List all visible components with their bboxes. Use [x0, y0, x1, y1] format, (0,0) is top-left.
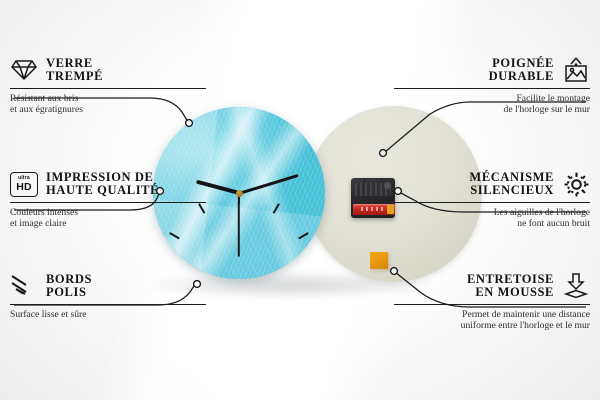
feature-desc-line2: uniforme entre l'horloge et le mur	[461, 320, 590, 331]
hd-badge-big-text: HD	[16, 182, 32, 193]
feature-desc-line1: Couleurs intenses	[10, 207, 78, 218]
feature-poignee-durable: POIGNÉE DURABLE Facilite le montage de l…	[394, 56, 590, 116]
feature-header: ultra HD IMPRESSION DE HAUTE QUALITÉ	[10, 170, 206, 198]
connector-dot-verre-trempe	[186, 120, 193, 127]
diamond-icon	[10, 56, 38, 84]
feature-title-line1: BORDS	[46, 272, 92, 286]
feature-title-line1: POIGNÉE	[492, 56, 554, 70]
feature-desc-line2: et aux égratignures	[10, 104, 83, 115]
feature-header: VERRE TREMPÉ	[10, 56, 206, 84]
feature-description: Facilite le montage de l'horloge sur le …	[394, 93, 590, 116]
foam-spacer-icon	[562, 272, 590, 300]
feature-divider	[10, 202, 206, 203]
feature-title: ENTRETOISE EN MOUSSE	[467, 273, 554, 300]
feature-desc-line1: Surface lisse et sûre	[10, 309, 86, 320]
feature-title-line2: DURABLE	[489, 69, 554, 83]
feature-header: ENTRETOISE EN MOUSSE	[394, 272, 590, 300]
feature-title-line2: EN MOUSSE	[475, 285, 554, 299]
connector-dot-poignee	[380, 150, 387, 157]
feature-divider	[394, 202, 590, 203]
feature-title: IMPRESSION DE HAUTE QUALITÉ	[46, 171, 159, 198]
ultra-hd-icon: ultra HD	[10, 170, 38, 198]
feature-title: VERRE TREMPÉ	[46, 57, 103, 84]
feature-divider	[394, 304, 590, 305]
gear-icon	[562, 170, 590, 198]
feature-impression-haute-qualite: ultra HD IMPRESSION DE HAUTE QUALITÉ Cou…	[10, 170, 206, 230]
feature-verre-trempe: VERRE TREMPÉ Résistant aux bris et aux é…	[10, 56, 206, 116]
feature-title: MÉCANISME SILENCIEUX	[469, 171, 554, 198]
feature-divider	[10, 88, 206, 89]
feature-desc-line2: et image claire	[10, 218, 66, 229]
feature-desc-line2: de l'horloge sur le mur	[504, 104, 590, 115]
feature-title-line1: ENTRETOISE	[467, 272, 554, 286]
feature-header: POIGNÉE DURABLE	[394, 56, 590, 84]
feature-header: BORDS POLIS	[10, 272, 206, 300]
feature-title-line1: IMPRESSION DE	[46, 170, 153, 184]
picture-hanger-icon	[562, 56, 590, 84]
feature-desc-line2: ne font aucun bruit	[517, 218, 590, 229]
feature-desc-line1: Les aiguilles de l'horloge	[494, 207, 590, 218]
feature-mecanisme-silencieux: MÉCANISME SILENCIEUX Les aiguilles de l'…	[394, 170, 590, 230]
feature-divider	[394, 88, 590, 89]
feature-title-line2: POLIS	[46, 285, 87, 299]
feature-description: Surface lisse et sûre	[10, 309, 206, 320]
hd-badge-small-text: ultra	[18, 176, 30, 181]
feature-desc-line1: Résistant aux bris	[10, 93, 78, 104]
feature-description: Résistant aux bris et aux égratignures	[10, 93, 206, 116]
feature-title: POIGNÉE DURABLE	[489, 57, 554, 84]
feature-title: BORDS POLIS	[46, 273, 92, 300]
feature-desc-line1: Permet de maintenir une distance	[462, 309, 590, 320]
feature-title-line1: VERRE	[46, 56, 93, 70]
feature-description: Couleurs intenses et image claire	[10, 207, 206, 230]
feature-bords-polis: BORDS POLIS Surface lisse et sûre	[10, 272, 206, 320]
ultra-hd-badge: ultra HD	[10, 172, 38, 197]
feature-entretoise-en-mousse: ENTRETOISE EN MOUSSE Permet de maintenir…	[394, 272, 590, 332]
feature-title-line1: MÉCANISME	[469, 170, 554, 184]
feature-divider	[10, 304, 206, 305]
feature-title-line2: TREMPÉ	[46, 69, 103, 83]
polished-edges-icon	[10, 272, 38, 300]
feature-desc-line1: Facilite le montage	[516, 93, 590, 104]
feature-description: Permet de maintenir une distance uniform…	[394, 309, 590, 332]
feature-title-line2: SILENCIEUX	[470, 183, 554, 197]
product-infographic: VERRE TREMPÉ Résistant aux bris et aux é…	[0, 0, 600, 400]
feature-header: MÉCANISME SILENCIEUX	[394, 170, 590, 198]
feature-title-line2: HAUTE QUALITÉ	[46, 183, 159, 197]
feature-description: Les aiguilles de l'horloge ne font aucun…	[394, 207, 590, 230]
